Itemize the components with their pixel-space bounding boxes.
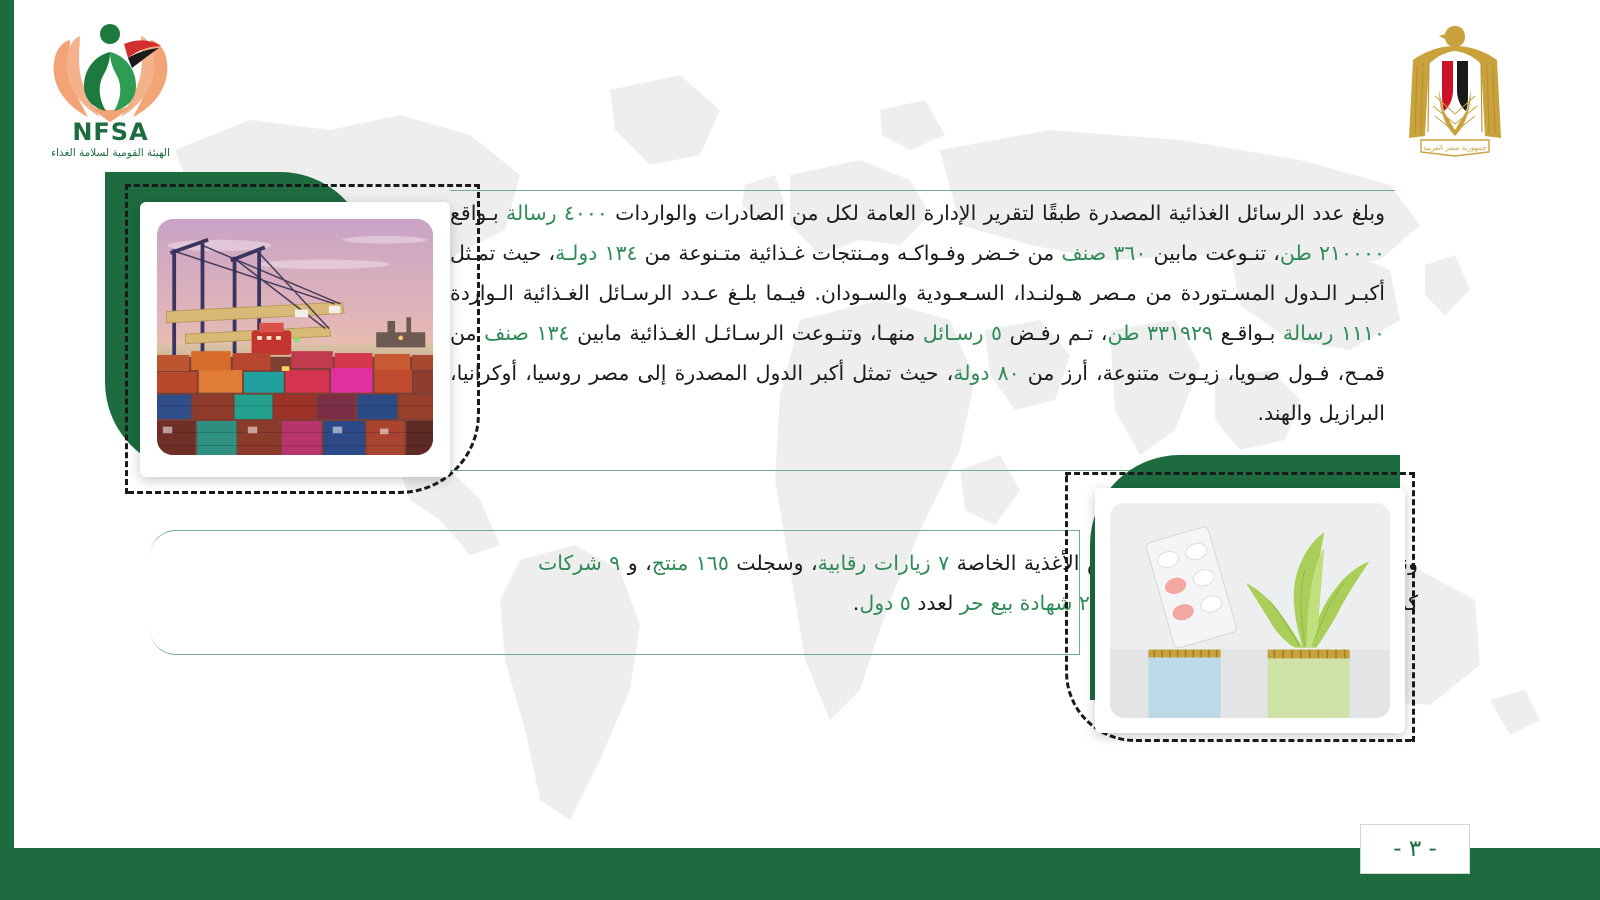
paragraph-run: منهـا، وتنـوعت الرسـائـل الغـذائية مابين xyxy=(570,321,923,345)
nfsa-acronym: NFSA xyxy=(28,120,193,144)
paragraph-run: وبلغ عدد الرسائل الغذائية المصدرة طبقًا … xyxy=(608,201,1385,225)
eagle-of-saladin-icon: جمهورية مصر العربية xyxy=(1409,26,1501,156)
nfsa-logo: NFSA الهيئة القومية لسلامة الغذاء xyxy=(28,18,193,158)
highlighted-figure: ٥ دول xyxy=(859,591,910,615)
highlighted-figure: ١٣٤ دولـة xyxy=(555,241,637,265)
highlighted-figure: ١٦٥ منتج xyxy=(652,551,729,575)
nfsa-logo-mark xyxy=(28,18,193,122)
highlighted-figure: ١١١٠ رسالة xyxy=(1283,321,1385,345)
highlighted-figure: ٩ شركات xyxy=(538,551,620,575)
paragraph-run: لعدد xyxy=(911,591,960,615)
page-number-badge: - ٣ - xyxy=(1360,824,1470,874)
top-content-card: وبلغ عدد الرسائل الغذائية المصدرة طبقًا … xyxy=(105,172,1395,492)
lab-sample-photo-frame xyxy=(1095,488,1405,733)
nfsa-subtitle: الهيئة القومية لسلامة الغذاء xyxy=(28,147,193,159)
highlighted-figure: ٨٠ دولة xyxy=(953,361,1019,385)
highlighted-figure: ١٣٤ صنف xyxy=(484,321,569,345)
shipping-port-photo-frame xyxy=(140,202,450,477)
paragraph-run: ، تنـوعت مابين xyxy=(1146,241,1280,265)
highlighted-figure: ٤٠٠٠ رسالة xyxy=(506,201,608,225)
top-hairline-rule xyxy=(450,190,1395,191)
lab-sample-photo xyxy=(1110,503,1390,718)
highlighted-figure: ٣٦٠ صنف xyxy=(1061,241,1146,265)
emblem-banner-text: جمهورية مصر العربية xyxy=(1423,143,1486,152)
paragraph-run: ، تـم رفـض xyxy=(1002,321,1107,345)
left-green-rail xyxy=(0,0,14,900)
shipping-port-photo xyxy=(157,219,433,455)
highlighted-figure: ٢١٠٠٠٠ طن xyxy=(1280,241,1385,265)
egypt-emblem: جمهورية مصر العربية xyxy=(1395,18,1515,163)
top-paragraph: وبلغ عدد الرسائل الغذائية المصدرة طبقًا … xyxy=(450,194,1385,434)
paragraph-run: ، و xyxy=(620,551,651,575)
paragraph-run: بـواقع xyxy=(450,201,506,225)
paragraph-run: من خـضر وفـواكـه ومـنتجات غـذائية متـنوع… xyxy=(638,241,1062,265)
highlighted-figure: ٧ زيارات رقابية xyxy=(818,551,950,575)
highlighted-figure: ٣٣١٩٢٩ طن xyxy=(1107,321,1213,345)
bottom-content-card: ونفذت الإدارة العامة لتسجيل وتراخيص الأغ… xyxy=(150,530,1440,770)
highlighted-figure: ٥ رسـائل xyxy=(923,321,1002,345)
paragraph-run: ، وسجلت xyxy=(729,551,818,575)
paragraph-run: بـواقـع xyxy=(1213,321,1283,345)
